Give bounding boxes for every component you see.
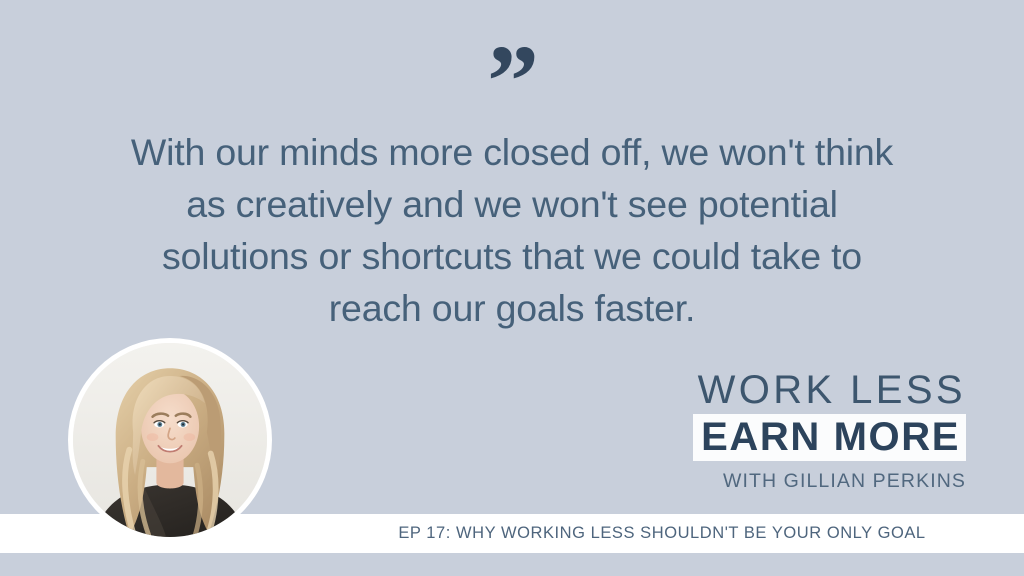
avatar <box>68 338 272 542</box>
show-branding: WORK LESS EARN MORE WITH GILLIAN PERKINS <box>536 368 966 493</box>
quote-line: solutions or shortcuts that we could tak… <box>60 230 964 282</box>
brand-title-line2-wrapper: EARN MORE <box>536 414 966 461</box>
brand-byline: WITH GILLIAN PERKINS <box>536 469 966 493</box>
episode-title: EP 17: WHY WORKING LESS SHOULDN'T BE YOU… <box>300 514 1024 553</box>
quote-text: With our minds more closed off, we won't… <box>60 126 964 334</box>
brand-title-line1: WORK LESS <box>536 368 966 412</box>
quote-line: as creatively and we won't see potential <box>60 178 964 230</box>
brand-title-line2: EARN MORE <box>693 414 966 461</box>
quote-line: With our minds more closed off, we won't… <box>60 126 964 178</box>
quote-mark-icon: ” <box>0 30 1024 134</box>
podcast-quote-card: ” With our minds more closed off, we won… <box>0 0 1024 576</box>
quote-line: reach our goals faster. <box>60 282 964 334</box>
